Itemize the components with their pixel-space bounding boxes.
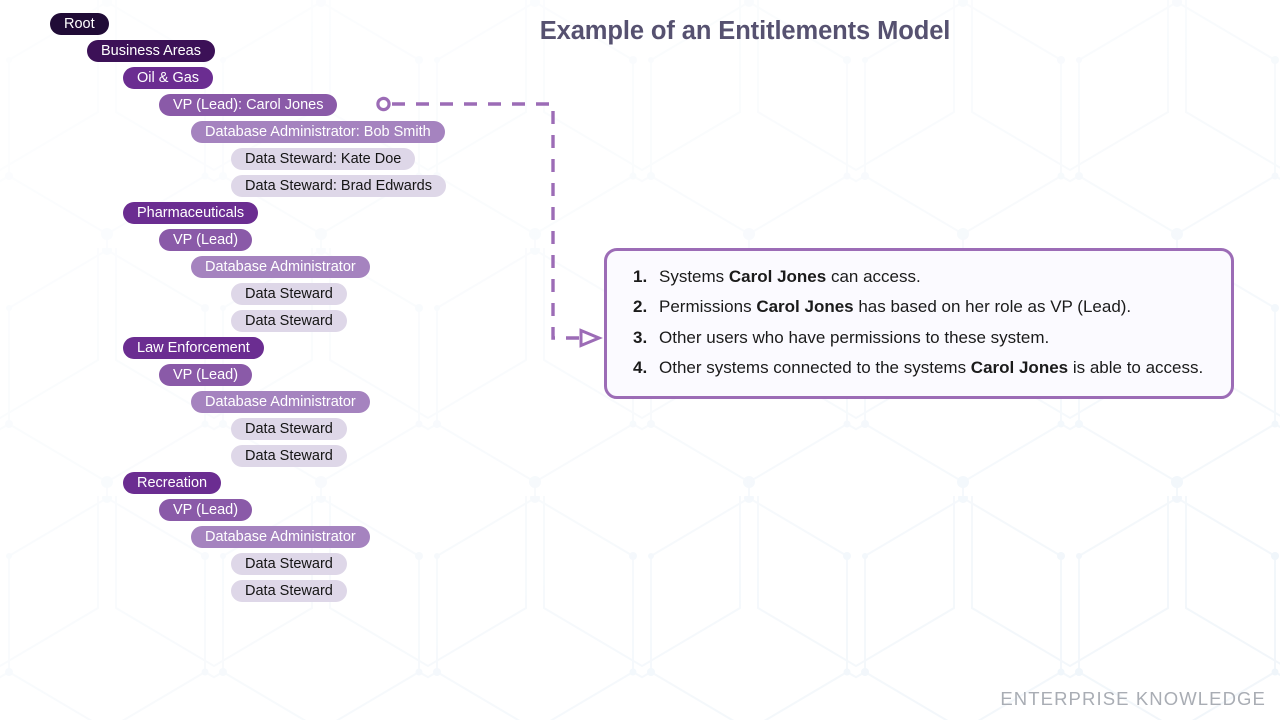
tree-node-row: Data Steward — [231, 418, 347, 440]
tree-node-pill[interactable]: Data Steward — [231, 553, 347, 575]
tree-node-pill[interactable]: Oil & Gas — [123, 67, 213, 89]
tree-node-row: Data Steward: Brad Edwards — [231, 175, 446, 197]
plain-text: Systems — [659, 267, 729, 286]
tree-node-pill[interactable]: Data Steward — [231, 310, 347, 332]
tree-node-row: Oil & Gas — [123, 67, 213, 89]
tree-node-row: Database Administrator — [191, 256, 370, 278]
tree-node-row: Database Administrator — [191, 526, 370, 548]
tree-node-pill[interactable]: Data Steward: Brad Edwards — [231, 175, 446, 197]
tree-node-pill[interactable]: Law Enforcement — [123, 337, 264, 359]
callout-box: 1.Systems Carol Jones can access.2.Permi… — [604, 248, 1234, 399]
callout-item-text: Permissions Carol Jones has based on her… — [659, 295, 1209, 318]
brand-wordmark: ENTERPRISE KNOWLEDGE — [1000, 688, 1266, 710]
tree-node-row: Data Steward — [231, 283, 347, 305]
tree-node-row: Data Steward: Kate Doe — [231, 148, 415, 170]
tree-node-pill[interactable]: Database Administrator — [191, 256, 370, 278]
callout-list-item: 4.Other systems connected to the systems… — [625, 356, 1209, 379]
callout-list-item: 2.Permissions Carol Jones has based on h… — [625, 295, 1209, 318]
tree-node-row: VP (Lead) — [159, 229, 252, 251]
callout-item-text: Systems Carol Jones can access. — [659, 265, 1209, 288]
tree-node-row: Data Steward — [231, 553, 347, 575]
tree-node-pill[interactable]: VP (Lead): Carol Jones — [159, 94, 337, 116]
plain-text: is able to access. — [1068, 358, 1203, 377]
emphasized-name: Carol Jones — [971, 358, 1068, 377]
callout-item-number: 1. — [625, 265, 659, 288]
tree-node-row: VP (Lead) — [159, 499, 252, 521]
tree-node-row: Recreation — [123, 472, 221, 494]
callout-list-item: 3.Other users who have permissions to th… — [625, 326, 1209, 349]
tree-node-pill[interactable]: VP (Lead) — [159, 499, 252, 521]
tree-node-row: VP (Lead) — [159, 364, 252, 386]
emphasized-name: Carol Jones — [729, 267, 826, 286]
tree-node-row: Law Enforcement — [123, 337, 264, 359]
plain-text: Other systems connected to the systems — [659, 358, 971, 377]
emphasized-name: Carol Jones — [756, 297, 853, 316]
tree-node-row: Pharmaceuticals — [123, 202, 258, 224]
callout-item-number: 2. — [625, 295, 659, 318]
tree-node-row: Data Steward — [231, 580, 347, 602]
tree-node-pill[interactable]: VP (Lead) — [159, 364, 252, 386]
tree-node-pill[interactable]: Pharmaceuticals — [123, 202, 258, 224]
tree-node-pill[interactable]: Database Administrator — [191, 391, 370, 413]
callout-item-text: Other users who have permissions to thes… — [659, 326, 1209, 349]
tree-node-row: Database Administrator: Bob Smith — [191, 121, 445, 143]
tree-node-pill[interactable]: Data Steward — [231, 283, 347, 305]
plain-text: Other users who have permissions to thes… — [659, 328, 1049, 347]
tree-node-pill[interactable]: Data Steward — [231, 445, 347, 467]
plain-text: has based on her role as VP (Lead). — [854, 297, 1132, 316]
callout-list-item: 1.Systems Carol Jones can access. — [625, 265, 1209, 288]
plain-text: Permissions — [659, 297, 756, 316]
callout-item-number: 3. — [625, 326, 659, 349]
tree-node-pill[interactable]: Database Administrator — [191, 526, 370, 548]
tree-node-row: Database Administrator — [191, 391, 370, 413]
tree-node-row: Data Steward — [231, 310, 347, 332]
page-title: Example of an Entitlements Model — [0, 17, 1280, 46]
callout-item-text: Other systems connected to the systems C… — [659, 356, 1209, 379]
entitlements-tree: RootBusiness AreasOil & GasVP (Lead): Ca… — [0, 0, 620, 720]
tree-node-pill[interactable]: Recreation — [123, 472, 221, 494]
plain-text: can access. — [826, 267, 921, 286]
tree-node-pill[interactable]: Data Steward: Kate Doe — [231, 148, 415, 170]
tree-node-pill[interactable]: VP (Lead) — [159, 229, 252, 251]
callout-item-number: 4. — [625, 356, 659, 379]
tree-node-pill[interactable]: Database Administrator: Bob Smith — [191, 121, 445, 143]
tree-node-row: Data Steward — [231, 445, 347, 467]
tree-node-pill[interactable]: Data Steward — [231, 418, 347, 440]
tree-node-pill[interactable]: Data Steward — [231, 580, 347, 602]
tree-node-row: VP (Lead): Carol Jones — [159, 94, 337, 116]
